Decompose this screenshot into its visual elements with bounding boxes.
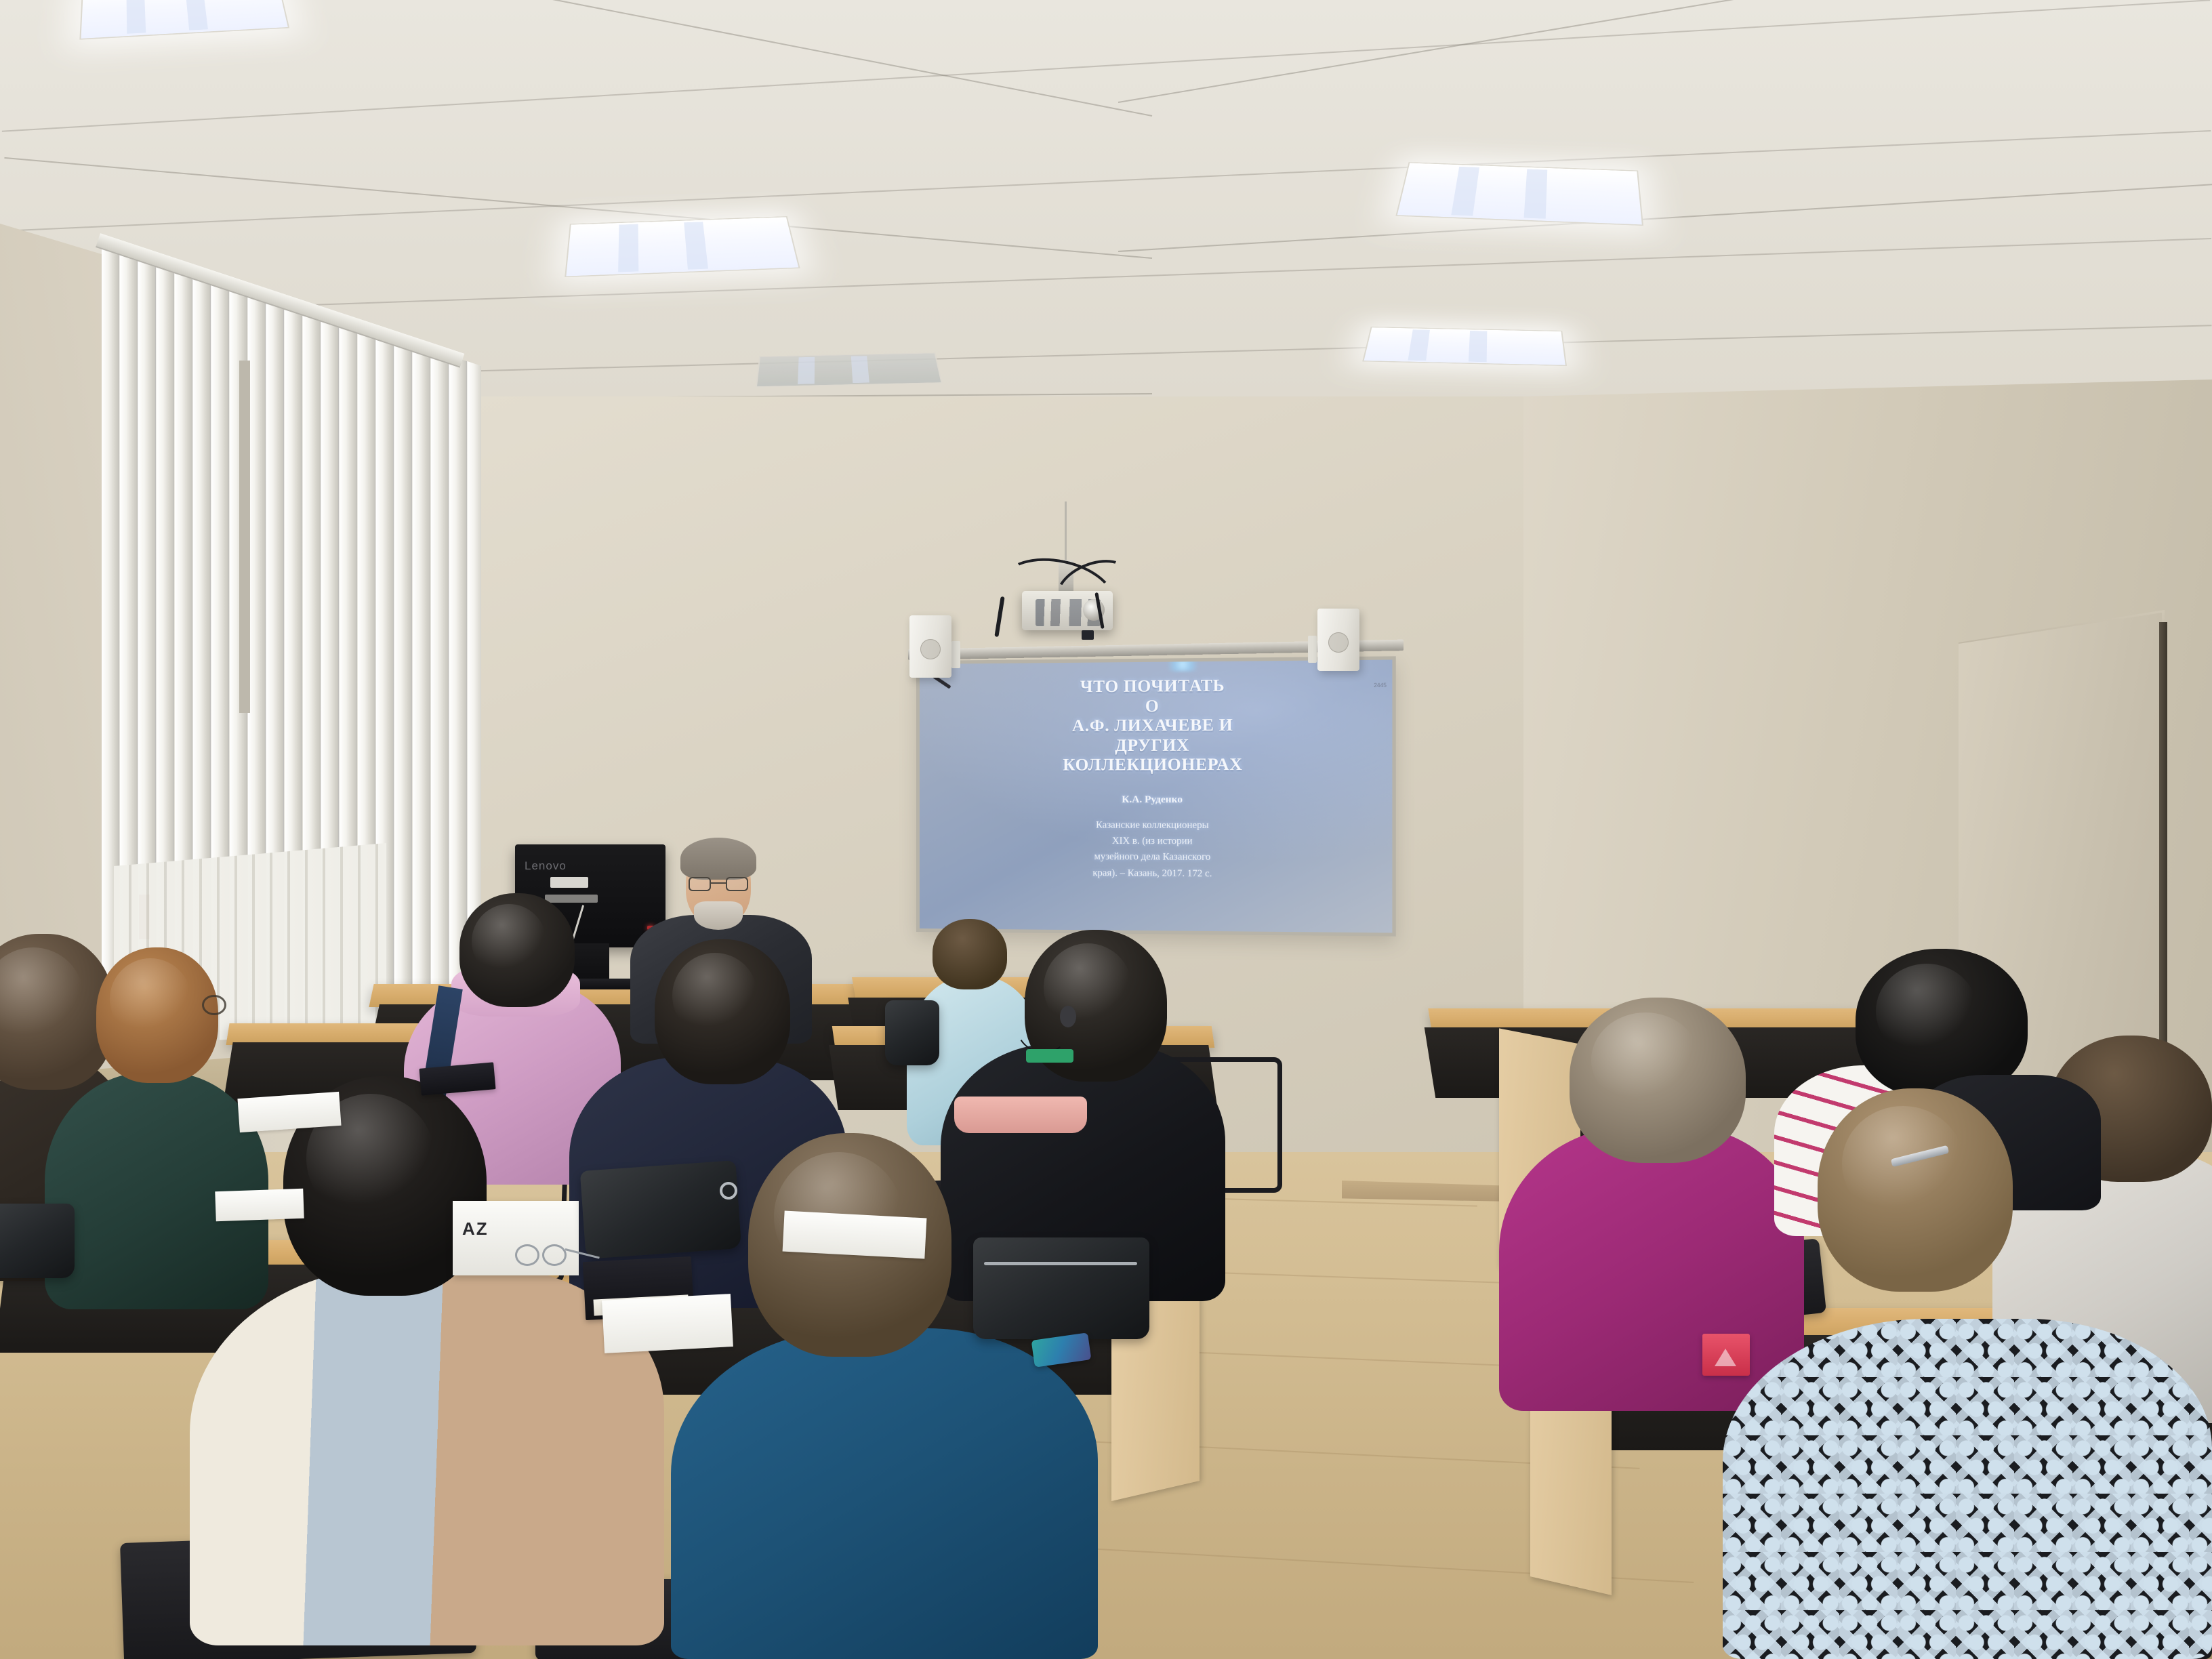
speaker-right: [1317, 609, 1359, 671]
speaker-bracket-left: [951, 641, 960, 668]
ceiling-light-5: [1362, 327, 1567, 366]
speaker-bracket-right: [1308, 636, 1317, 663]
handbag-left-ring-icon: [720, 1182, 737, 1200]
monitor-stand: [573, 943, 609, 983]
board-serial-tag: 2445: [1374, 682, 1387, 689]
speaker-left: [909, 615, 951, 678]
notes-far-left: [215, 1189, 304, 1222]
handbag-front: [0, 1204, 75, 1278]
handbag-left: [580, 1160, 742, 1259]
projector-connector: [1082, 630, 1094, 640]
attendee-magenta-body: [1499, 1126, 1804, 1411]
glasses-icon: [689, 877, 748, 892]
earbud-icon: [1060, 1006, 1076, 1027]
projected-slide: ЧТО ПОЧИТАТЬ О А.Ф. ЛИХАЧЕВЕ И ДРУГИХ КО…: [920, 660, 1392, 933]
attendee-houndstooth-body: [1723, 1319, 2212, 1659]
slide-reference: Казанские коллекционеры XIX в. (из истор…: [1092, 817, 1212, 882]
lecture-hall-photo: ЧТО ПОЧИТАТЬ О А.Ф. ЛИХАЧЕВЕ И ДРУГИХ КО…: [0, 0, 2212, 1659]
monitor-brand-label: Lenovo: [525, 859, 567, 873]
attendee-green-glasses-icon: [202, 995, 226, 1015]
notes-mid-left: [237, 1092, 341, 1132]
monitor-sticker: [550, 877, 588, 888]
pink-case: [954, 1097, 1087, 1133]
projector-hotspot: [1162, 660, 1204, 672]
slide-author: К.А. Руденко: [1122, 794, 1183, 805]
attendee-lightblue-head: [933, 919, 1007, 989]
projector-suspension-rod: [1065, 501, 1067, 564]
attendee-hoodie-collar: [1026, 1049, 1073, 1063]
slide-title: ЧТО ПОЧИТАТЬ О А.Ф. ЛИХАЧЕВЕ И ДРУГИХ КО…: [1063, 676, 1242, 775]
shopping-bag-label: AZ: [462, 1218, 489, 1240]
ceiling-light-3: [756, 352, 943, 387]
attendee-teal-body: [671, 1328, 1098, 1659]
red-tag-object: [1702, 1334, 1750, 1376]
notes-front-left: [602, 1294, 733, 1353]
ceiling-light-2: [565, 216, 800, 277]
eyeglasses-on-desk: [515, 1244, 580, 1267]
monitor-sticker-2: [545, 895, 598, 903]
whiteboard: ЧТО ПОЧИТАТЬ О А.Ф. ЛИХАЧЕВЕ И ДРУГИХ КО…: [916, 656, 1396, 936]
presenter-beard: [694, 901, 743, 930]
notes-teacher-desk: [783, 1211, 927, 1259]
handbag-center-zipper: [984, 1262, 1137, 1265]
ceiling-light-4: [1395, 162, 1643, 226]
attendee-colorblock-body: [190, 1266, 664, 1645]
handbag-center: [973, 1237, 1149, 1339]
presenter-hair: [680, 838, 756, 880]
backpack-mid: [885, 1000, 939, 1065]
